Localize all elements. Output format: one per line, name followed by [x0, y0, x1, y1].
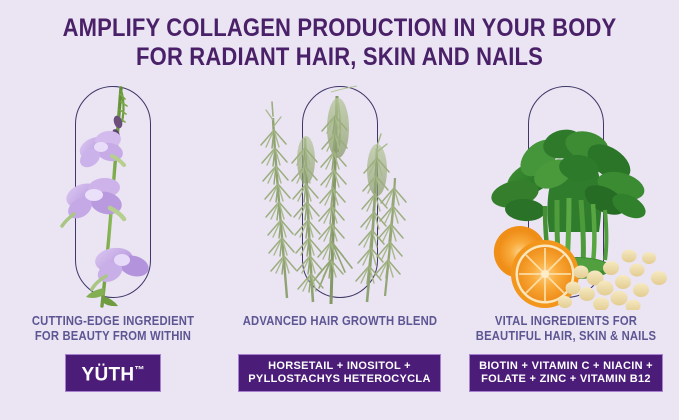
- caption-line-2: FOR BEAUTY FROM WITHIN: [11, 329, 214, 344]
- greens-orange-soybeans-illustration: [453, 82, 679, 310]
- brand-name: YÜTH: [82, 364, 135, 385]
- ingredient-badge-hair-blend: HORSETAIL + INOSITOL + PYLLOSTACHYS HETE…: [238, 354, 440, 392]
- art-zone-3: [453, 82, 679, 310]
- page-title: AMPLIFY COLLAGEN PRODUCTION IN YOUR BODY…: [41, 14, 639, 72]
- art-zone-2: [227, 82, 453, 310]
- infographic-poster: AMPLIFY COLLAGEN PRODUCTION IN YOUR BODY…: [0, 0, 679, 420]
- badge-line-2: FOLATE + ZINC + VITAMIN B12: [479, 373, 653, 386]
- badge-line-2: PYLLOSTACHYS HETEROCYCLA: [248, 373, 430, 386]
- caption-line-2: BEAUTIFUL HAIR, SKIN & NAILS: [464, 329, 667, 344]
- caption-line-1: CUTTING-EDGE INGREDIENT: [11, 314, 214, 329]
- headline-line-2: FOR RADIANT HAIR, SKIN AND NAILS: [41, 43, 639, 72]
- caption-line-1: ADVANCED HAIR GROWTH BLEND: [238, 314, 441, 329]
- horsetail-plant-illustration: [227, 82, 453, 310]
- badge-line-1: BIOTIN + VITAMIN C + NIACIN +: [479, 360, 653, 373]
- badge-wrap-1: YÜTH™: [0, 354, 226, 392]
- ingredient-columns: CUTTING-EDGE INGREDIENT FOR BEAUTY FROM …: [0, 82, 679, 412]
- ingredient-column-yuth: CUTTING-EDGE INGREDIENT FOR BEAUTY FROM …: [0, 82, 226, 412]
- ingredient-column-vitamins: VITAL INGREDIENTS FOR BEAUTIFUL HAIR, SK…: [453, 82, 679, 412]
- caption-line-1: VITAL INGREDIENTS FOR: [464, 314, 667, 329]
- trademark-symbol: ™: [134, 365, 144, 376]
- headline-line-1: AMPLIFY COLLAGEN PRODUCTION IN YOUR BODY: [41, 14, 639, 43]
- ingredient-badge-vitamins: BIOTIN + VITAMIN C + NIACIN + FOLATE + Z…: [469, 354, 663, 392]
- brand-badge-yuth: YÜTH™: [65, 354, 162, 392]
- caption-column-3: VITAL INGREDIENTS FOR BEAUTIFUL HAIR, SK…: [464, 314, 667, 344]
- badge-wrap-3: BIOTIN + VITAMIN C + NIACIN + FOLATE + Z…: [453, 354, 679, 392]
- lavender-flower-illustration: [0, 82, 226, 310]
- caption-column-1: CUTTING-EDGE INGREDIENT FOR BEAUTY FROM …: [11, 314, 214, 344]
- brand-name-line: YÜTH™: [82, 360, 145, 385]
- badge-wrap-2: HORSETAIL + INOSITOL + PYLLOSTACHYS HETE…: [227, 354, 453, 392]
- caption-column-2: ADVANCED HAIR GROWTH BLEND: [238, 314, 441, 329]
- art-zone-1: [0, 82, 226, 310]
- ingredient-column-horsetail: ADVANCED HAIR GROWTH BLEND HORSETAIL + I…: [227, 82, 453, 412]
- badge-line-1: HORSETAIL + INOSITOL +: [248, 360, 430, 373]
